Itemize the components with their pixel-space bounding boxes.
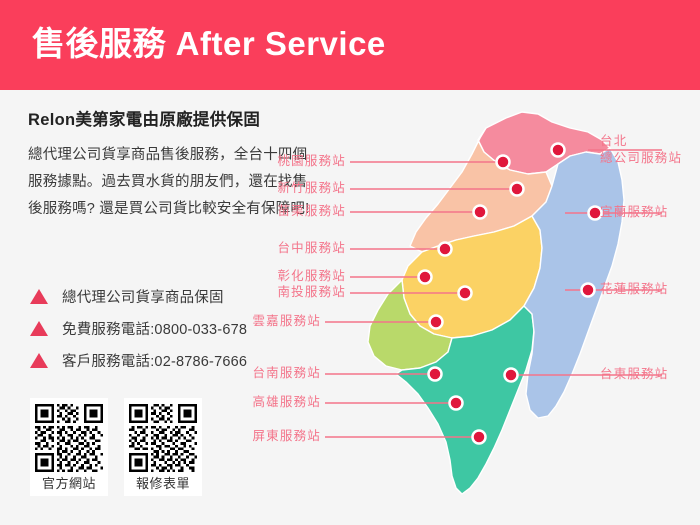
label-taipei-line1: 台北 [600,134,627,149]
label-pingtung: 屏東服務站 [236,429,321,444]
bullet-label: 客戶服務電話:02-8786-7666 [62,350,247,371]
bullet-label: 總代理公司貨享商品保固 [62,286,224,307]
qr-code-icon [129,404,197,472]
after-service-infographic: 售後服務 After Service Relon美第家電由原廠提供保固 總代理公… [0,0,700,525]
label-changhua: 彰化服務站 [262,269,346,284]
label-yunjia: 雲嘉服務站 [236,314,321,329]
marker-taitung [505,369,518,382]
triangle-icon [30,321,48,336]
qr-code-group: 官方網站 [30,398,202,496]
bullet-label: 免費服務電話:0800-033-678 [62,318,247,339]
label-hsinchu: 新竹服務站 [262,181,346,196]
marker-pingtung [473,431,486,444]
marker-taichung [439,243,452,256]
label-tainan: 台南服務站 [236,366,321,381]
marker-hualien [582,284,595,297]
label-taitung: 台東服務站 [600,367,669,382]
triangle-icon [30,353,48,368]
page-header: 售後服務 After Service [0,0,700,90]
label-kaohsiung: 高雄服務站 [236,395,321,410]
marker-taipei [552,144,565,157]
marker-nantou [459,287,472,300]
marker-hsinchu [511,183,524,196]
qr-caption: 報修表單 [136,476,190,492]
marker-kaohsiung [450,397,463,410]
marker-yunjia [430,316,443,329]
taiwan-service-map: 桃園服務站 新竹服務站 苗栗服務站 台中服務站 彰化服務站 南投服務站 雲嘉服務… [270,100,700,520]
marker-tainan [429,368,442,381]
qr-caption: 官方網站 [42,476,96,492]
qr-repair-form[interactable]: 報修表單 [124,398,202,496]
label-miaoli: 苗栗服務站 [262,204,346,219]
label-nantou: 南投服務站 [262,285,346,300]
label-taoyuan: 桃園服務站 [262,154,346,169]
marker-taoyuan [497,156,510,169]
triangle-icon [30,289,48,304]
page-title: 售後服務 After Service [32,22,386,66]
marker-miaoli [474,206,487,219]
marker-changhua [419,271,432,284]
label-yilan: 宜蘭服務站 [600,205,669,220]
label-taichung: 台中服務站 [262,241,346,256]
label-hualien: 花蓮服務站 [600,282,669,297]
label-taipei-line2: 總公司服務站 [600,151,682,166]
qr-official-site[interactable]: 官方網站 [30,398,108,496]
qr-code-icon [35,404,103,472]
